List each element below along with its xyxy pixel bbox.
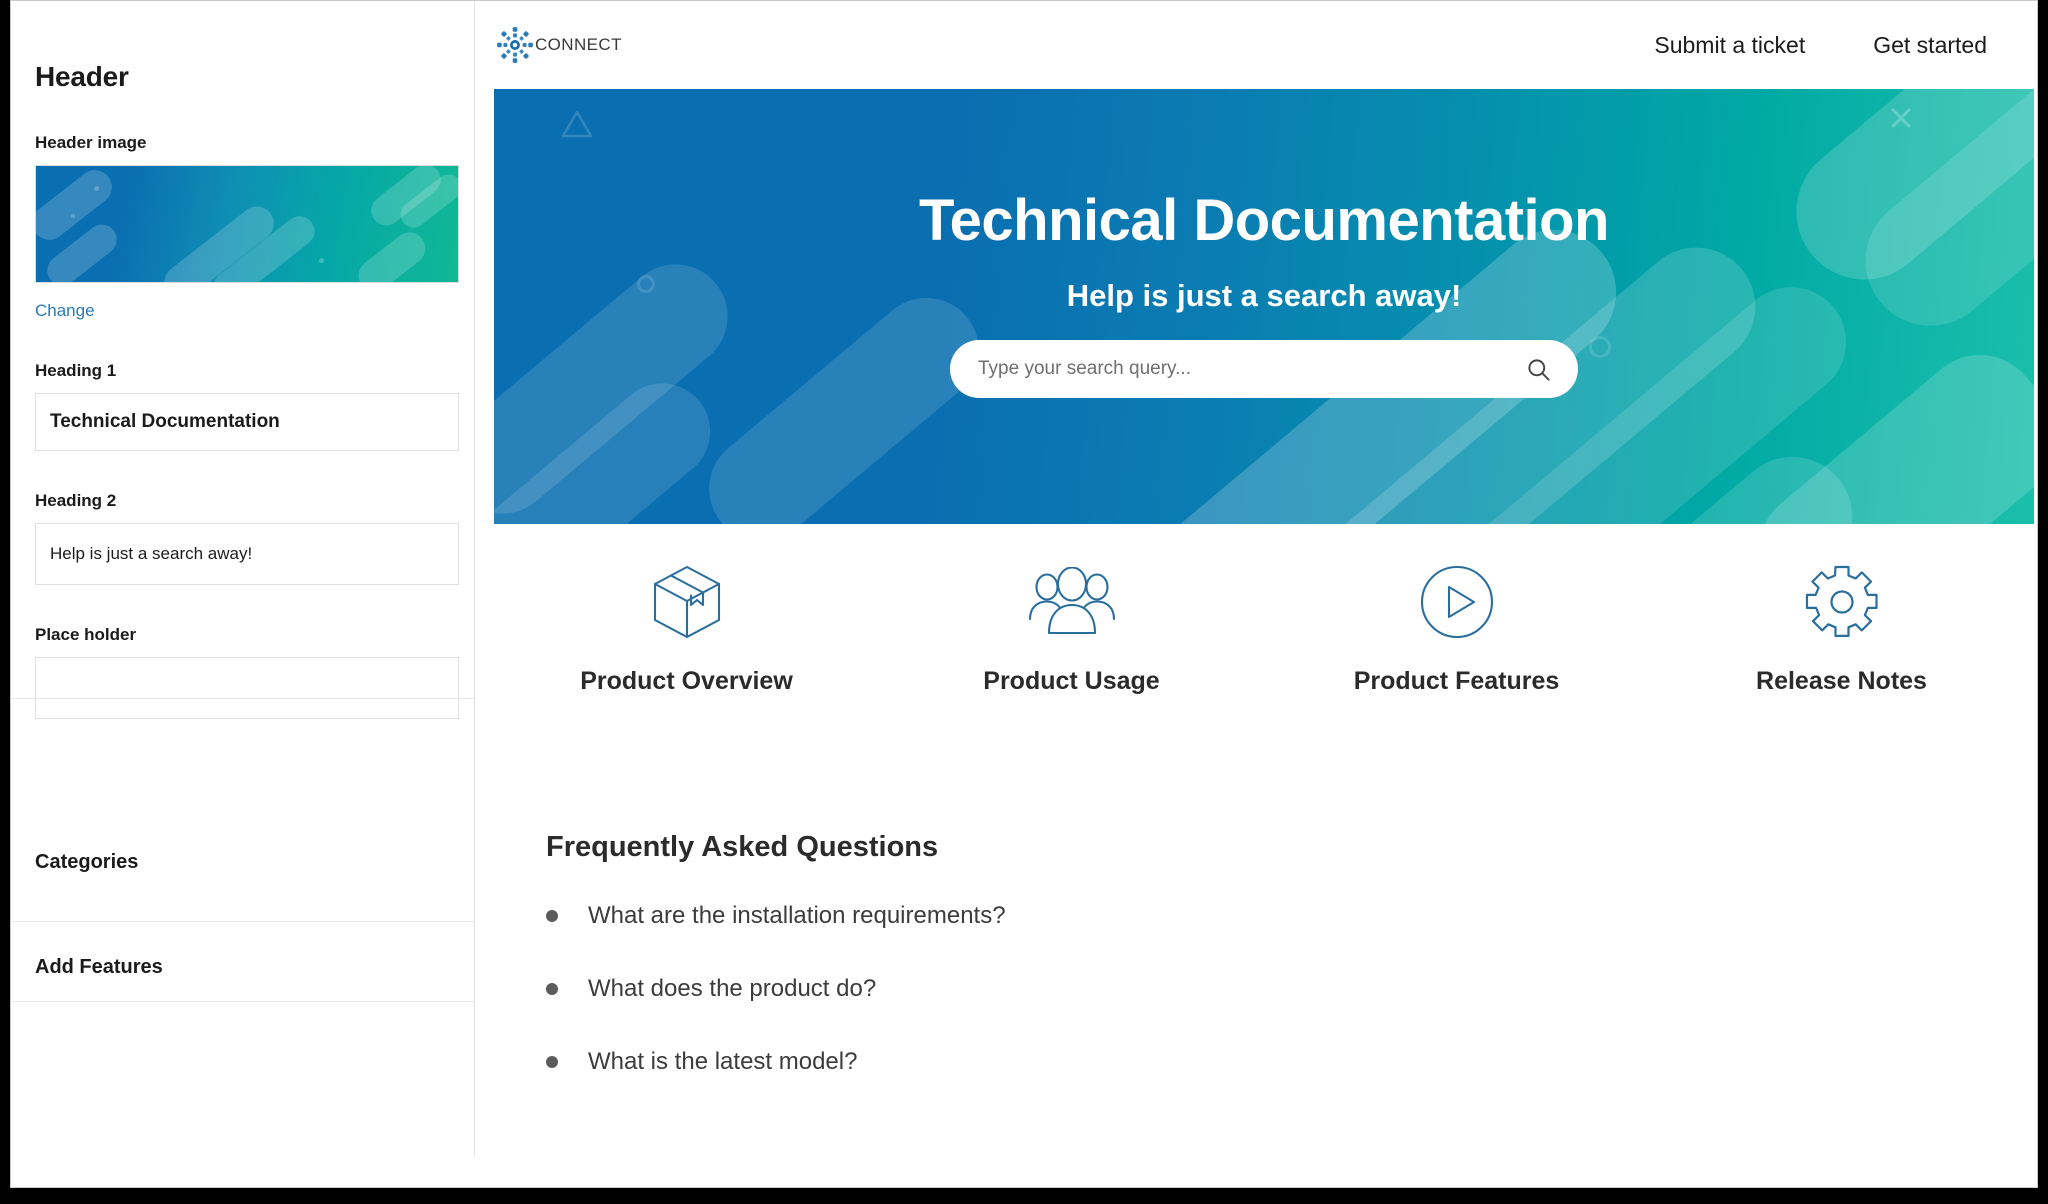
tile-product-features[interactable]: Product Features [1264, 561, 1649, 696]
heading1-input[interactable]: Technical Documentation [35, 393, 459, 451]
gear-icon [1803, 563, 1881, 641]
divider [11, 1001, 475, 1002]
sidebar-item-categories[interactable]: Categories [35, 851, 138, 874]
list-item[interactable]: What is the latest model? [546, 1048, 1746, 1076]
header-image-thumbnail[interactable] [35, 165, 459, 283]
faq-section: Frequently Asked Questions What are the … [546, 831, 1746, 1121]
bullet-icon [546, 910, 558, 922]
box-package-icon [651, 563, 723, 641]
sidebar-item-add-features[interactable]: Add Features [35, 956, 163, 979]
hero-subheading: Help is just a search away! [494, 278, 2034, 314]
placeholder-input[interactable] [35, 657, 459, 719]
faq-question: What are the installation requirements? [588, 902, 1006, 930]
tile-release-notes[interactable]: Release Notes [1649, 561, 2034, 696]
app-window: Header Header image Change Heading 1 Tec… [10, 0, 2038, 1188]
divider [11, 921, 475, 922]
play-circle-icon [1419, 564, 1495, 640]
tile-label: Release Notes [1649, 667, 2034, 696]
divider [11, 698, 475, 699]
hero-heading: Technical Documentation [494, 187, 2034, 254]
connect-starburst-logo-icon [496, 26, 534, 64]
heading1-label: Heading 1 [35, 361, 450, 381]
faq-list: What are the installation requirements? … [546, 902, 1746, 1076]
tile-label: Product Usage [879, 667, 1264, 696]
list-item[interactable]: What are the installation requirements? [546, 902, 1746, 930]
thumb-dot [319, 258, 324, 263]
tile-icon-wrap [494, 561, 879, 643]
site-preview: CONNECT Submit a ticket Get started [476, 1, 2038, 1188]
thumb-shape [352, 226, 432, 283]
tile-product-usage[interactable]: Product Usage [879, 561, 1264, 696]
faq-question: What is the latest model? [588, 1048, 857, 1076]
bullet-icon [546, 1056, 558, 1068]
tile-icon-wrap [1649, 561, 2034, 643]
site-topnav: CONNECT Submit a ticket Get started [476, 1, 2038, 89]
hero-banner: Technical Documentation Help is just a s… [494, 89, 2034, 524]
hero-search-bar[interactable] [950, 340, 1578, 398]
hero-decor-shape [1631, 432, 1877, 524]
nav-link-submit-a-ticket[interactable]: Submit a ticket [1654, 32, 1805, 59]
heading2-input[interactable]: Help is just a search away! [35, 523, 459, 585]
page-title: Header [35, 61, 450, 93]
bullet-icon [546, 983, 558, 995]
tile-product-overview[interactable]: Product Overview [494, 561, 879, 696]
thumb-dot [71, 214, 75, 218]
tile-icon-wrap [1264, 561, 1649, 643]
placeholder-label: Place holder [35, 625, 450, 645]
tile-label: Product Overview [494, 667, 879, 696]
faq-title: Frequently Asked Questions [546, 831, 1746, 864]
brand-logo[interactable]: CONNECT [496, 26, 622, 64]
header-image-label: Header image [35, 133, 450, 153]
change-image-link[interactable]: Change [35, 301, 95, 321]
category-tiles: Product Overview Prod [494, 561, 2034, 696]
tile-icon-wrap [879, 561, 1264, 643]
tile-label: Product Features [1264, 667, 1649, 696]
editor-sidebar: Header Header image Change Heading 1 Tec… [11, 1, 475, 1157]
faq-question: What does the product do? [588, 975, 876, 1003]
search-input[interactable] [978, 358, 1525, 380]
brand-name: CONNECT [535, 35, 622, 55]
list-item[interactable]: What does the product do? [546, 975, 1746, 1003]
thumb-dot [94, 186, 99, 191]
heading2-label: Heading 2 [35, 491, 450, 511]
nav-link-get-started[interactable]: Get started [1873, 32, 1987, 59]
hero-content: Technical Documentation Help is just a s… [494, 89, 2034, 398]
people-group-icon [1025, 567, 1119, 637]
search-icon[interactable] [1525, 356, 1552, 383]
